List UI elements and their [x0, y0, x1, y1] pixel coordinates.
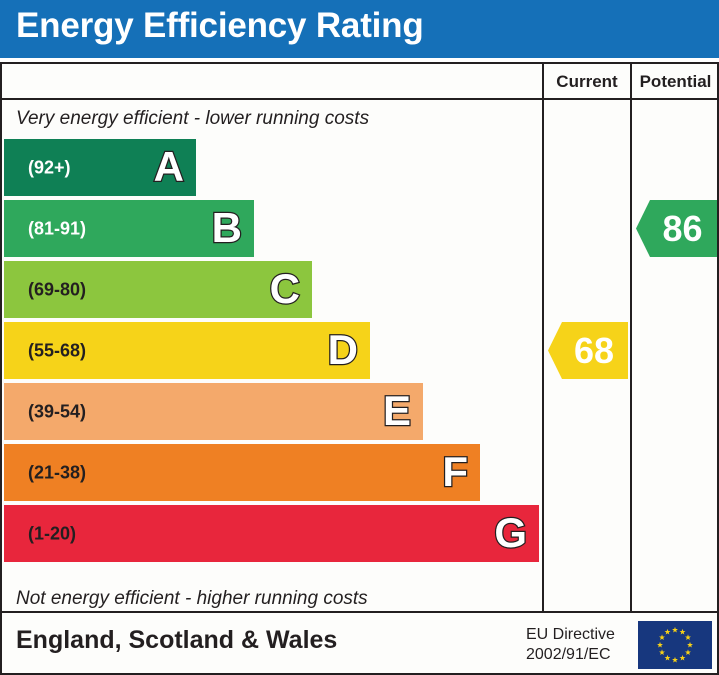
eu-directive-line-2: 2002/91/EC	[526, 645, 630, 665]
footer: England, Scotland & Wales EU Directive 2…	[0, 613, 719, 675]
band-bar-e: (39-54)E	[4, 383, 423, 440]
current-rating-value: 68	[562, 333, 614, 369]
band-bar-c: (69-80)C	[4, 261, 312, 318]
potential-rating-value: 86	[650, 211, 702, 247]
caption-inefficient: Not energy efficient - higher running co…	[16, 588, 368, 610]
band-range-f: (21-38)	[28, 462, 86, 483]
band-letter-g: G	[494, 512, 527, 554]
page-title: Energy Efficiency Rating	[16, 6, 424, 46]
current-rating-marker: 68	[548, 322, 628, 379]
column-header-potential: Potential	[632, 72, 719, 92]
band-letter-a: A	[154, 146, 184, 188]
band-letter-e: E	[383, 390, 411, 432]
band-range-d: (55-68)	[28, 340, 86, 361]
title-bar: Energy Efficiency Rating	[0, 0, 719, 58]
eu-directive-text: EU Directive 2002/91/EC	[526, 625, 630, 665]
band-bar-b: (81-91)B	[4, 200, 254, 257]
band-bars: (92+)A(81-91)B(69-80)C(55-68)D(39-54)E(2…	[4, 139, 540, 583]
eu-directive-line-1: EU Directive	[526, 625, 630, 645]
band-range-a: (92+)	[28, 157, 71, 178]
band-bar-d: (55-68)D	[4, 322, 370, 379]
rating-table: Current Potential Very energy efficient …	[0, 62, 719, 613]
column-divider-current	[542, 64, 544, 611]
band-range-g: (1-20)	[28, 523, 76, 544]
band-letter-b: B	[212, 207, 242, 249]
band-range-c: (69-80)	[28, 279, 86, 300]
band-bar-g: (1-20)G	[4, 505, 539, 562]
band-bar-f: (21-38)F	[4, 444, 480, 501]
potential-rating-marker: 86	[636, 200, 717, 257]
caption-efficient: Very energy efficient - lower running co…	[16, 108, 369, 130]
column-divider-potential	[630, 64, 632, 611]
band-bar-a: (92+)A	[4, 139, 196, 196]
band-letter-f: F	[442, 451, 468, 493]
band-range-e: (39-54)	[28, 401, 86, 422]
region-label: England, Scotland & Wales	[16, 626, 337, 655]
band-letter-c: C	[270, 268, 300, 310]
eu-flag-icon	[638, 621, 712, 669]
epc-certificate: Energy Efficiency Rating Current Potenti…	[0, 0, 719, 675]
band-range-b: (81-91)	[28, 218, 86, 239]
column-header-current: Current	[544, 72, 630, 92]
band-letter-d: D	[328, 329, 358, 371]
